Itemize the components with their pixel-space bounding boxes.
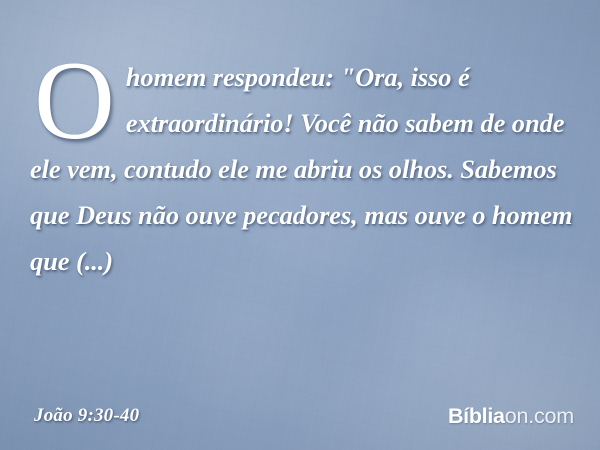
card-content: O homem respondeu: "Ora, isso é extraord… bbox=[0, 0, 600, 450]
logo-text-primary: Bíblia bbox=[448, 404, 505, 429]
logo-text-secondary: on.com bbox=[505, 404, 574, 429]
card-footer: João 9:30-40 Bíbliaon.com bbox=[0, 388, 600, 450]
verse-block: O homem respondeu: "Ora, isso é extraord… bbox=[30, 54, 578, 284]
bibliaon-logo[interactable]: Bíbliaon.com bbox=[448, 404, 574, 429]
verse-paragraph: O homem respondeu: "Ora, isso é extraord… bbox=[30, 54, 578, 284]
verse-card: O homem respondeu: "Ora, isso é extraord… bbox=[0, 0, 600, 450]
scripture-reference: João 9:30-40 bbox=[34, 405, 139, 427]
verse-dropcap: O bbox=[34, 58, 115, 145]
